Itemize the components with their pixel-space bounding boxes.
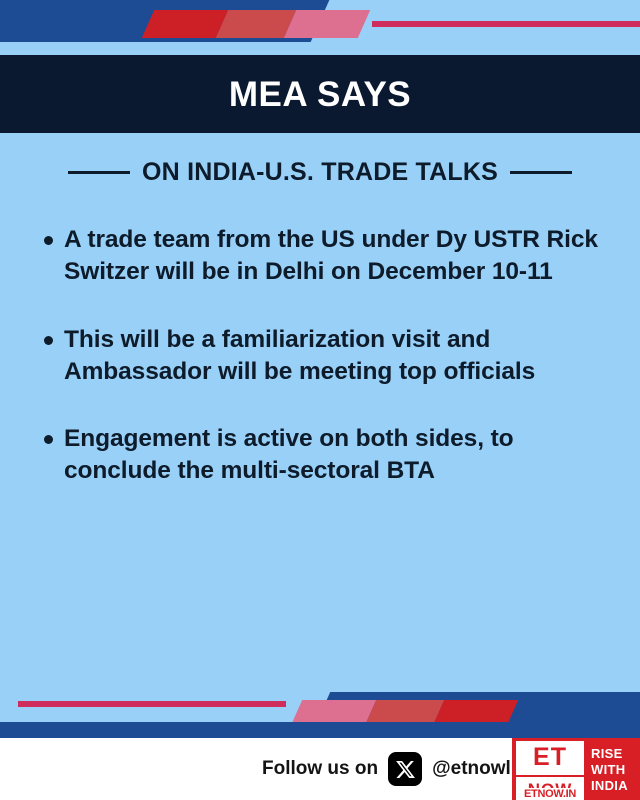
top-bar-crimson-line <box>372 21 640 27</box>
bullet-dot-icon <box>44 435 53 444</box>
page-title: MEA SAYS <box>229 77 411 112</box>
follow-us-group: Follow us on @etnowlive <box>262 752 537 786</box>
subtitle-rule-right <box>510 171 572 174</box>
bottom-bar-crimson-line <box>18 701 286 707</box>
bullet-dot-icon <box>44 236 53 245</box>
etnow-logo-tagline: RISE WITH INDIA <box>584 741 636 800</box>
subtitle-text: ON INDIA-U.S. TRADE TALKS <box>142 158 498 187</box>
top-bar-red-segment <box>142 10 228 38</box>
x-twitter-icon[interactable] <box>388 752 422 786</box>
tagline-line-2: WITH <box>591 763 625 778</box>
bullet-text: Engagement is active on both sides, to c… <box>64 423 619 487</box>
top-bar-pink-segment <box>284 10 370 38</box>
bullet-dot-icon <box>44 336 53 345</box>
follow-label: Follow us on <box>262 758 378 780</box>
etnow-logo[interactable]: ET NOW ETNOW.IN RISE WITH INDIA <box>512 738 640 800</box>
bullet-list: A trade team from the US under Dy USTR R… <box>44 224 619 523</box>
list-item: Engagement is active on both sides, to c… <box>44 423 619 487</box>
subtitle-rule-left <box>68 171 130 174</box>
top-decorative-bar <box>0 0 640 42</box>
bullet-text: This will be a familiarization visit and… <box>64 324 619 388</box>
bullet-text: A trade team from the US under Dy USTR R… <box>64 224 619 288</box>
subtitle-row: ON INDIA-U.S. TRADE TALKS <box>0 158 640 187</box>
etnow-logo-et: ET <box>516 741 584 775</box>
footer: Follow us on @etnowlive ET NOW ETNOW.IN … <box>0 738 640 800</box>
list-item: This will be a familiarization visit and… <box>44 324 619 388</box>
top-bar-midred-segment <box>216 10 296 38</box>
etnow-logo-url: ETNOW.IN <box>516 788 584 800</box>
list-item: A trade team from the US under Dy USTR R… <box>44 224 619 288</box>
bottom-bar-blue-strip <box>0 722 640 738</box>
tagline-line-3: INDIA <box>591 779 628 794</box>
bottom-decorative-bar <box>0 692 640 738</box>
tagline-line-1: RISE <box>591 747 623 762</box>
news-graphic-card: MEA SAYS ON INDIA-U.S. TRADE TALKS A tra… <box>0 0 640 800</box>
header-band: MEA SAYS <box>0 55 640 133</box>
